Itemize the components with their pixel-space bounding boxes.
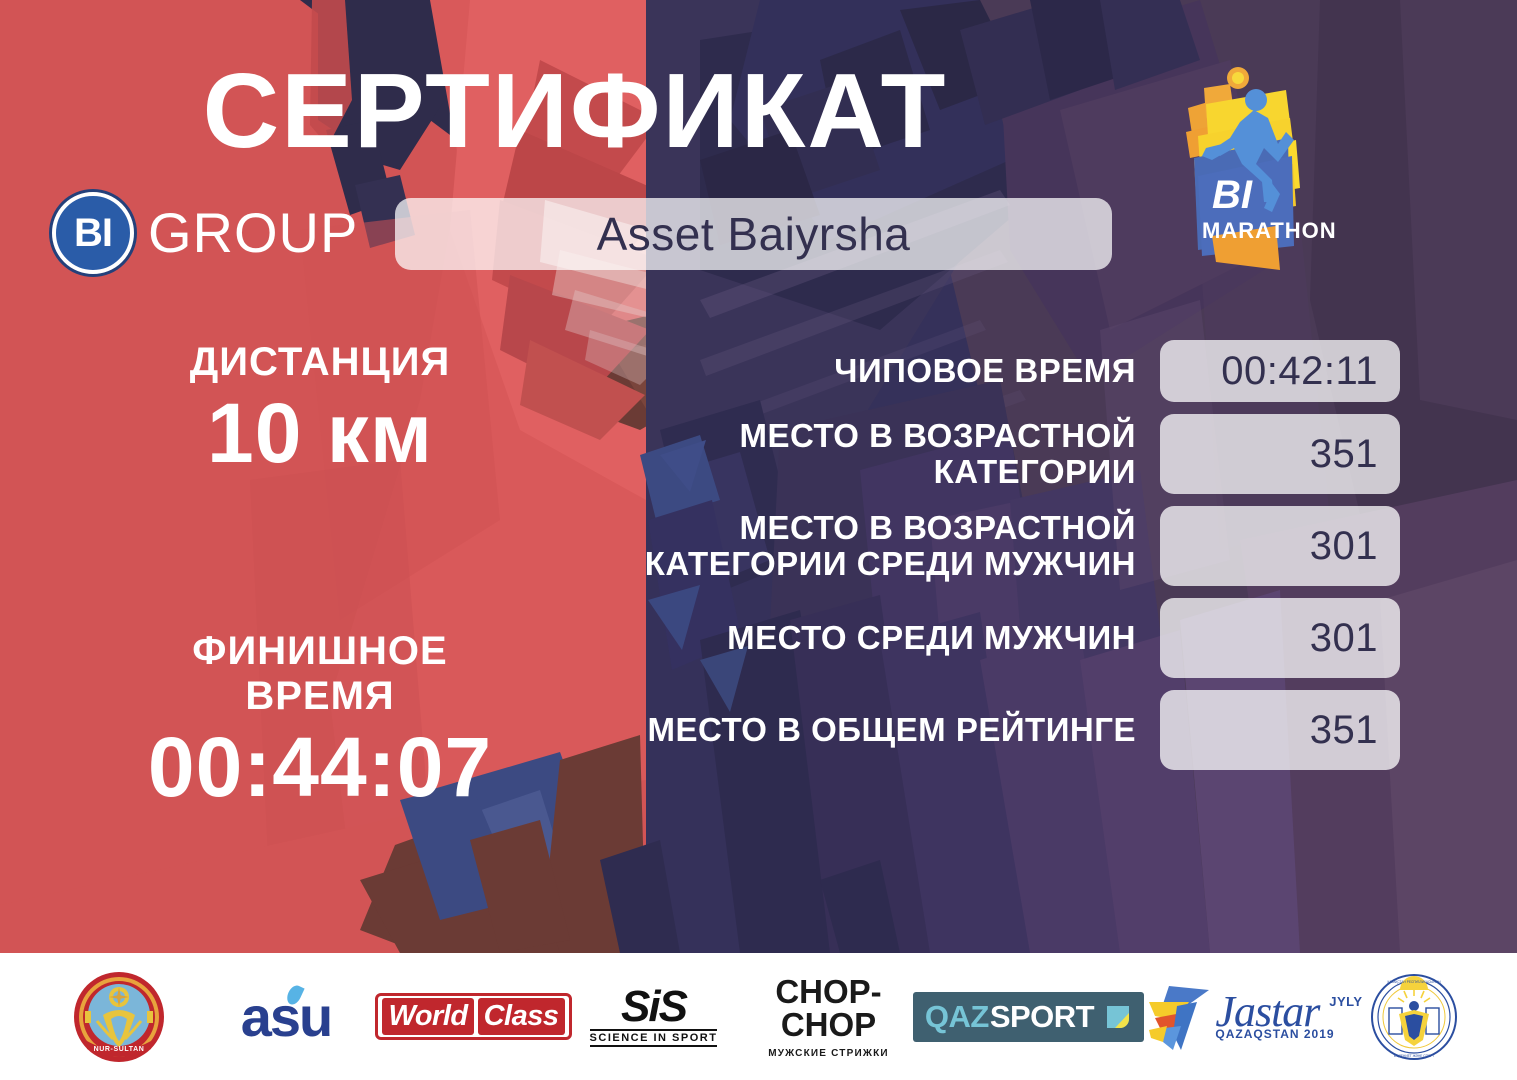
chop-chop-tagline: МУЖСКИЕ СТРИЖКИ bbox=[734, 1048, 924, 1059]
sis-wordmark: SiS bbox=[590, 986, 718, 1028]
distance-label: ДИСТАНЦИЯ bbox=[30, 340, 610, 385]
stat-row-overall-place: МЕСТО В ОБЩЕМ РЕЙТИНГЕ 351 bbox=[600, 690, 1400, 770]
world-class-word-b: Class bbox=[478, 998, 565, 1035]
stat-row-men-place: МЕСТО СРЕДИ МУЖЧИН 301 bbox=[600, 598, 1400, 678]
stat-label: МЕСТО В ВОЗРАСТНОЙ КАТЕГОРИИ bbox=[600, 418, 1160, 491]
sponsor-nur-sultan-emblem: NUR-SULTAN bbox=[39, 967, 199, 1067]
stat-label: ЧИПОВОЕ ВРЕМЯ bbox=[600, 353, 1160, 389]
stat-row-age-category-men-place: МЕСТО В ВОЗРАСТНОЙ КАТЕГОРИИ СРЕДИ МУЖЧИ… bbox=[600, 506, 1400, 586]
finish-time-block: ФИНИШНОЕ ВРЕМЯ 00:44:07 bbox=[30, 629, 610, 811]
jastar-wordmark: Jastar bbox=[1215, 992, 1334, 1032]
stat-value-pill: 301 bbox=[1160, 598, 1400, 678]
bi-badge-icon: BI bbox=[52, 192, 134, 274]
jastar-tagline: QAZAQSTAN 2019 bbox=[1215, 1027, 1334, 1041]
right-stats-column: ЧИПОВОЕ ВРЕМЯ 00:42:11 МЕСТО В ВОЗРАСТНО… bbox=[600, 340, 1400, 782]
stat-value: 301 bbox=[1310, 524, 1378, 569]
stat-value-pill: 351 bbox=[1160, 690, 1400, 770]
jastar-jyly-tag: JYLY bbox=[1329, 994, 1362, 1009]
sponsor-bar: NUR-SULTAN asu World Class SiS SCIENCE I… bbox=[0, 953, 1517, 1080]
jastar-bird-icon bbox=[1147, 980, 1213, 1054]
stat-value-pill: 301 bbox=[1160, 506, 1400, 586]
qazsport-mark-icon bbox=[1104, 1003, 1132, 1031]
stat-value-pill: 351 bbox=[1160, 414, 1400, 494]
certificate-canvas: СЕРТИФИКАТ BI GROUP Asset Baiyrsha bbox=[0, 0, 1517, 1080]
stat-value-pill: 00:42:11 bbox=[1160, 340, 1400, 402]
chop-chop-wordmark: CHOP-CHOP bbox=[734, 975, 924, 1041]
sponsor-world-class-logo: World Class bbox=[374, 967, 574, 1067]
sis-tagline: SCIENCE IN SPORT bbox=[590, 1029, 718, 1047]
left-spacer bbox=[30, 477, 610, 629]
sponsor-qazsport-logo: QAZ SPORT bbox=[924, 967, 1134, 1067]
stat-row-age-category-place: МЕСТО В ВОЗРАСТНОЙ КАТЕГОРИИ 351 bbox=[600, 414, 1400, 494]
stat-label: МЕСТО В ВОЗРАСТНОЙ КАТЕГОРИИ СРЕДИ МУЖЧИ… bbox=[600, 510, 1160, 583]
distance-value: 10 км bbox=[30, 389, 610, 477]
svg-text:MARATHON: MARATHON bbox=[1202, 218, 1337, 243]
svg-text:BI: BI bbox=[1212, 173, 1253, 217]
bi-group-word: GROUP bbox=[148, 205, 358, 261]
left-stats-column: ДИСТАНЦИЯ 10 км ФИНИШНОЕ ВРЕМЯ 00:44:07 bbox=[30, 340, 610, 811]
stat-value: 351 bbox=[1310, 708, 1378, 753]
sponsor-ministry-emblem: ҚАЗАҚСТАН РЕСПУБЛИКАСЫНЫҢ МӘДЕНИЕТ ЖӘНЕ … bbox=[1349, 967, 1479, 1067]
world-class-word-a: World bbox=[382, 998, 473, 1035]
svg-text:NUR-SULTAN: NUR-SULTAN bbox=[93, 1046, 144, 1053]
svg-text:ҚАЗАҚСТАН РЕСПУБЛИКАСЫНЫҢ: ҚАЗАҚСТАН РЕСПУБЛИКАСЫНЫҢ bbox=[1387, 980, 1441, 984]
bi-badge-label: BI bbox=[52, 192, 134, 274]
participant-name-text: Asset Baiyrsha bbox=[597, 207, 911, 261]
sponsor-chop-chop-logo: CHOP-CHOP МУЖСКИЕ СТРИЖКИ bbox=[734, 967, 924, 1067]
stat-value: 351 bbox=[1310, 432, 1378, 477]
finish-time-value: 00:44:07 bbox=[30, 723, 610, 811]
sponsor-jastar-logo: Jastar QAZAQSTAN 2019 JYLY bbox=[1134, 967, 1349, 1067]
finish-label-line2: ВРЕМЯ bbox=[245, 674, 394, 718]
finish-label-line1: ФИНИШНОЕ bbox=[192, 629, 447, 673]
page-title: СЕРТИФИКАТ bbox=[0, 58, 1150, 164]
bi-group-logo: BI GROUP bbox=[52, 192, 358, 274]
bi-marathon-emblem: BI MARATHON bbox=[1168, 60, 1383, 290]
stat-label: МЕСТО В ОБЩЕМ РЕЙТИНГЕ bbox=[600, 712, 1160, 748]
stat-value: 301 bbox=[1310, 616, 1378, 661]
participant-name-field: Asset Baiyrsha bbox=[395, 198, 1112, 270]
qazsport-word-b: SPORT bbox=[990, 999, 1094, 1035]
stat-row-chip-time: ЧИПОВОЕ ВРЕМЯ 00:42:11 bbox=[600, 340, 1400, 402]
stat-label: МЕСТО СРЕДИ МУЖЧИН bbox=[600, 620, 1160, 656]
svg-text:МӘДЕНИЕТ ЖӘНЕ СПОРТ: МӘДЕНИЕТ ЖӘНЕ СПОРТ bbox=[1393, 1054, 1434, 1058]
distance-block: ДИСТАНЦИЯ 10 км bbox=[30, 340, 610, 477]
stat-value: 00:42:11 bbox=[1221, 349, 1378, 394]
sponsor-sis-logo: SiS SCIENCE IN SPORT bbox=[574, 967, 734, 1067]
qazsport-word-a: QAZ bbox=[925, 999, 989, 1035]
sponsor-asu-logo: asu bbox=[199, 967, 374, 1067]
